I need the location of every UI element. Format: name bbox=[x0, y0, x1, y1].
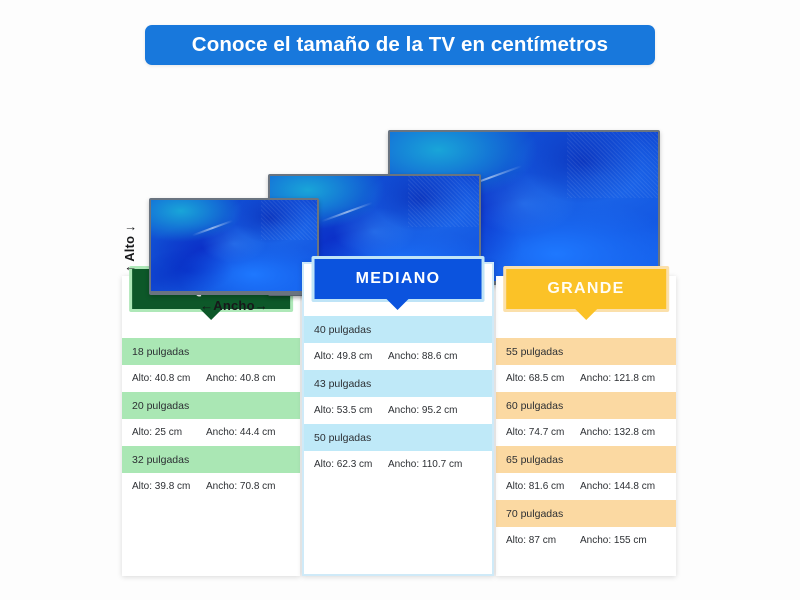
grande-rows: 55 pulgadas Alto: 68.5 cm Ancho: 121.8 c… bbox=[496, 338, 676, 554]
small-tv-screen bbox=[151, 200, 317, 291]
grande-badge-wrap: GRANDE bbox=[503, 266, 669, 312]
table-row: Alto: 39.8 cm Ancho: 70.8 cm bbox=[122, 473, 300, 500]
grande-badge[interactable]: GRANDE bbox=[503, 266, 669, 312]
ancho-value: Ancho: 40.8 cm bbox=[206, 373, 300, 384]
mediano-badge[interactable]: MEDIANO bbox=[312, 256, 485, 302]
table-row: Alto: 68.5 cm Ancho: 121.8 cm bbox=[496, 365, 676, 392]
table-row: Alto: 53.5 cm Ancho: 95.2 cm bbox=[304, 397, 492, 424]
alto-value: Alto: 62.3 cm bbox=[314, 459, 388, 470]
alto-value: Alto: 53.5 cm bbox=[314, 405, 388, 416]
column-mediano: MEDIANO 40 pulgadas Alto: 49.8 cm Ancho:… bbox=[302, 262, 494, 576]
ancho-value: Ancho: 95.2 cm bbox=[388, 405, 492, 416]
alto-label-text: ↑ Alto ↓ bbox=[122, 225, 137, 272]
column-pequeno: PEQUEÑO 18 pulgadas Alto: 40.8 cm Ancho:… bbox=[122, 276, 300, 576]
ancho-value: Ancho: 88.6 cm bbox=[388, 351, 492, 362]
alto-dimension-label: ↑ Alto ↓ bbox=[118, 208, 140, 288]
table-row: 55 pulgadas bbox=[496, 338, 676, 365]
tv-size-infographic: Conoce el tamaño de la TV en centímetros… bbox=[0, 0, 800, 600]
table-row: Alto: 25 cm Ancho: 44.4 cm bbox=[122, 419, 300, 446]
table-row: Alto: 74.7 cm Ancho: 132.8 cm bbox=[496, 419, 676, 446]
pequeno-rows: 18 pulgadas Alto: 40.8 cm Ancho: 40.8 cm… bbox=[122, 338, 300, 500]
table-row: 65 pulgadas bbox=[496, 446, 676, 473]
table-row: Alto: 49.8 cm Ancho: 88.6 cm bbox=[304, 343, 492, 370]
alto-value: Alto: 39.8 cm bbox=[132, 481, 206, 492]
table-row: 50 pulgadas bbox=[304, 424, 492, 451]
ancho-value: Ancho: 110.7 cm bbox=[388, 459, 492, 470]
table-row: Alto: 62.3 cm Ancho: 110.7 cm bbox=[304, 451, 492, 478]
ancho-value: Ancho: 132.8 cm bbox=[580, 427, 676, 438]
ancho-dimension-label: ←Ancho→ bbox=[149, 298, 319, 313]
alto-value: Alto: 81.6 cm bbox=[506, 481, 580, 492]
alto-value: Alto: 68.5 cm bbox=[506, 373, 580, 384]
mediano-badge-wrap: MEDIANO bbox=[312, 256, 485, 302]
table-row: Alto: 81.6 cm Ancho: 144.8 cm bbox=[496, 473, 676, 500]
alto-value: Alto: 49.8 cm bbox=[314, 351, 388, 362]
screen-glint-icon bbox=[192, 220, 233, 237]
table-row: 32 pulgadas bbox=[122, 446, 300, 473]
column-grande: GRANDE 55 pulgadas Alto: 68.5 cm Ancho: … bbox=[496, 276, 676, 576]
ancho-value: Ancho: 44.4 cm bbox=[206, 427, 300, 438]
mediano-heading: MEDIANO bbox=[356, 270, 441, 288]
table-row: Alto: 40.8 cm Ancho: 40.8 cm bbox=[122, 365, 300, 392]
screen-glint-icon bbox=[321, 202, 373, 222]
ancho-value: Ancho: 144.8 cm bbox=[580, 481, 676, 492]
alto-value: Alto: 40.8 cm bbox=[132, 373, 206, 384]
mediano-rows: 40 pulgadas Alto: 49.8 cm Ancho: 88.6 cm… bbox=[304, 316, 492, 478]
table-row: 20 pulgadas bbox=[122, 392, 300, 419]
table-row: 60 pulgadas bbox=[496, 392, 676, 419]
size-category-columns: PEQUEÑO 18 pulgadas Alto: 40.8 cm Ancho:… bbox=[0, 0, 800, 600]
small-tv-icon bbox=[149, 198, 319, 295]
table-row: 70 pulgadas bbox=[496, 500, 676, 527]
table-row: 18 pulgadas bbox=[122, 338, 300, 365]
table-row: 43 pulgadas bbox=[304, 370, 492, 397]
alto-value: Alto: 87 cm bbox=[506, 535, 580, 546]
ancho-value: Ancho: 121.8 cm bbox=[580, 373, 676, 384]
table-row: 40 pulgadas bbox=[304, 316, 492, 343]
grande-heading: GRANDE bbox=[547, 280, 624, 298]
alto-value: Alto: 25 cm bbox=[132, 427, 206, 438]
table-row: Alto: 87 cm Ancho: 155 cm bbox=[496, 527, 676, 554]
ancho-value: Ancho: 70.8 cm bbox=[206, 481, 300, 492]
ancho-value: Ancho: 155 cm bbox=[580, 535, 676, 546]
alto-value: Alto: 74.7 cm bbox=[506, 427, 580, 438]
